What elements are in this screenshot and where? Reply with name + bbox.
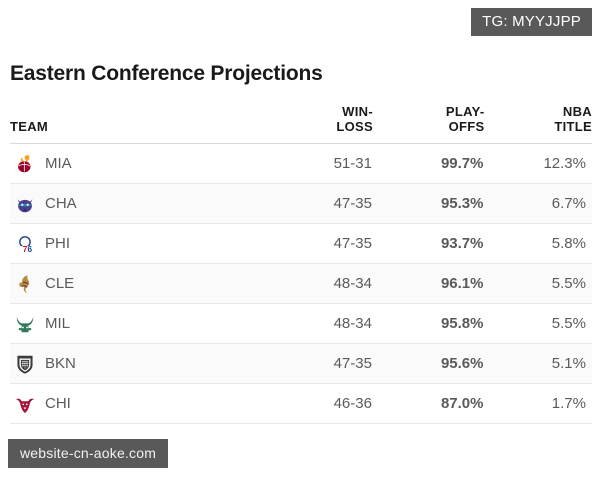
team-abbr: CHI [45,396,71,411]
team-cell: CHI [10,384,263,424]
column-header-playoffs-line1: PLAY- [373,104,485,119]
win-loss-cell: 46-36 [263,384,373,424]
team-abbr: MIL [45,316,70,331]
table-row[interactable]: BKN 47-35 95.6% 5.1% [10,344,592,384]
svg-text:6: 6 [28,244,33,253]
team-cell: BKN [10,344,263,384]
win-loss-cell: 47-35 [263,184,373,224]
bucks-logo-icon [14,313,36,335]
column-header-playoffs[interactable]: PLAY- OFFS [373,98,485,144]
projections-card: Eastern Conference Projections TEAM WIN-… [0,52,600,424]
table-header-row: TEAM WIN- LOSS PLAY- OFFS NBA TITLE [10,98,592,144]
column-header-nba-title-line2: TITLE [485,119,593,134]
nba-title-cell: 1.7% [485,384,593,424]
team-cell: 7 6 PHI [10,224,263,264]
tg-badge: TG: MYYJJPP [471,8,592,36]
column-header-nba-title-line1: NBA [485,104,593,119]
nba-title-cell: 12.3% [485,144,593,184]
column-header-win-loss[interactable]: WIN- LOSS [263,98,373,144]
table-row[interactable]: 7 6 PHI 47-35 93.7% 5.8% [10,224,592,264]
nets-logo-icon [14,353,36,375]
win-loss-cell: 51-31 [263,144,373,184]
column-header-team-line1: TEAM [10,119,48,134]
team-cell: MIL [10,304,263,344]
win-loss-cell: 48-34 [263,264,373,304]
team-cell: CLE [10,264,263,304]
nba-title-cell: 6.7% [485,184,593,224]
column-header-team[interactable]: TEAM [10,98,263,144]
table-body: MIA 51-31 99.7% 12.3% [10,144,592,424]
playoffs-cell: 96.1% [373,264,485,304]
team-abbr: PHI [45,236,70,251]
playoffs-cell: 99.7% [373,144,485,184]
playoffs-cell: 93.7% [373,224,485,264]
column-header-win-loss-line1: WIN- [263,104,373,119]
table-row[interactable]: MIL 48-34 95.8% 5.5% [10,304,592,344]
team-abbr: BKN [45,356,76,371]
table-row[interactable]: CHI 46-36 87.0% 1.7% [10,384,592,424]
column-header-playoffs-line2: OFFS [373,119,485,134]
site-watermark: website-cn-aoke.com [8,439,168,468]
bulls-logo-icon [14,393,36,415]
cavaliers-logo-icon [14,273,36,295]
win-loss-cell: 48-34 [263,304,373,344]
playoffs-cell: 95.8% [373,304,485,344]
table-header: TEAM WIN- LOSS PLAY- OFFS NBA TITLE [10,98,592,144]
playoffs-cell: 95.3% [373,184,485,224]
nba-title-cell: 5.5% [485,304,593,344]
team-abbr: MIA [45,156,72,171]
win-loss-cell: 47-35 [263,224,373,264]
page-title: Eastern Conference Projections [0,52,600,98]
column-header-nba-title[interactable]: NBA TITLE [485,98,593,144]
table-row[interactable]: CLE 48-34 96.1% 5.5% [10,264,592,304]
nba-title-cell: 5.5% [485,264,593,304]
win-loss-cell: 47-35 [263,344,373,384]
team-cell: CHA [10,184,263,224]
table-row[interactable]: CHA 47-35 95.3% 6.7% [10,184,592,224]
heat-logo-icon [14,153,36,175]
sixers-logo-icon: 7 6 [14,233,36,255]
team-abbr: CHA [45,196,77,211]
projections-table: TEAM WIN- LOSS PLAY- OFFS NBA TITLE [10,98,592,424]
column-header-win-loss-line2: LOSS [263,119,373,134]
table-row[interactable]: MIA 51-31 99.7% 12.3% [10,144,592,184]
playoffs-cell: 95.6% [373,344,485,384]
team-cell: MIA [10,144,263,184]
team-abbr: CLE [45,276,74,291]
hornets-logo-icon [14,193,36,215]
nba-title-cell: 5.8% [485,224,593,264]
nba-title-cell: 5.1% [485,344,593,384]
playoffs-cell: 87.0% [373,384,485,424]
